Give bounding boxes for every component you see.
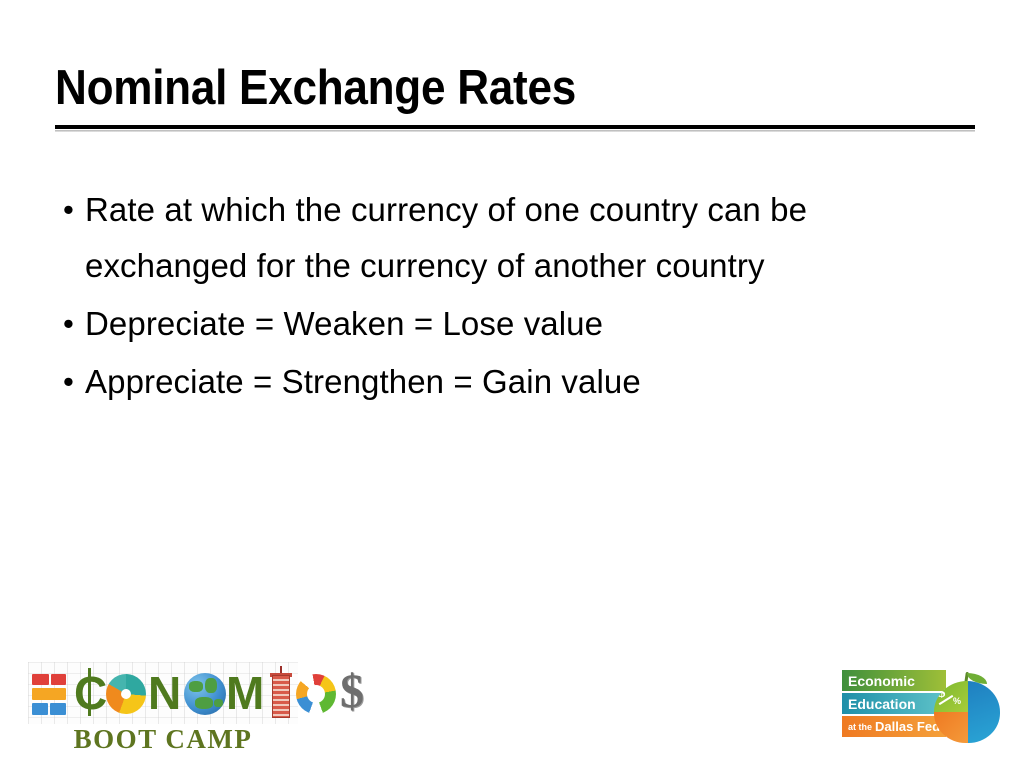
letter-i-building-icon — [272, 666, 290, 718]
apple-quadrant-blue — [968, 681, 1000, 743]
apple-icon: $ % — [934, 672, 1000, 744]
fed-band-economic-label: Economic — [848, 673, 915, 689]
letter-m-glyph: M — [226, 670, 264, 716]
letter-c-cent-icon: C — [74, 670, 106, 718]
bullet-dot-icon: • — [55, 182, 85, 238]
title-divider-shadow — [55, 130, 975, 132]
bullet-dot-icon: • — [55, 296, 85, 352]
title-divider-line — [55, 125, 975, 129]
list-item: • Depreciate = Weaken = Lose value — [55, 296, 985, 352]
list-item: • Appreciate = Strengthen = Gain value — [55, 354, 985, 410]
fed-band-economic: Economic — [842, 670, 946, 691]
letter-e-barchart-icon — [32, 674, 68, 716]
percent-sign-icon: % — [953, 696, 961, 706]
letter-c-donut-icon — [296, 674, 336, 714]
fed-band-atthe-label: at the — [848, 722, 872, 732]
apple-quadrant-green: $ % — [934, 681, 968, 712]
letter-o-piechart-icon — [106, 674, 146, 714]
letter-n-glyph: N — [148, 670, 181, 716]
bullet-list: • Rate at which the currency of one coun… — [55, 182, 985, 412]
bullet-text: Rate at which the currency of one countr… — [85, 182, 945, 294]
apple-body: $ % — [934, 681, 1000, 743]
economics-wordmark: C N M $ — [28, 662, 298, 724]
boot-camp-tagline: BOOT CAMP — [28, 724, 298, 755]
bullet-dot-icon: • — [55, 354, 85, 410]
cent-stroke-icon — [88, 668, 91, 716]
bullet-text: Depreciate = Weaken = Lose value — [85, 296, 945, 352]
list-item: • Rate at which the currency of one coun… — [55, 182, 985, 294]
dallas-fed-text-bands: Economic Education at the Dallas Fed — [842, 670, 946, 739]
fed-band-education-label: Education — [848, 696, 916, 712]
fed-band-dallasfed-label: Dallas Fed — [875, 719, 940, 734]
bullet-text: Appreciate = Strengthen = Gain value — [85, 354, 945, 410]
fed-band-education: Education — [842, 693, 946, 714]
title-block: Nominal Exchange Rates — [55, 62, 975, 115]
fed-band-dallas-fed: at the Dallas Fed — [842, 716, 946, 737]
title-divider — [55, 125, 975, 133]
slide-canvas: Nominal Exchange Rates • Rate at which t… — [0, 0, 1024, 768]
page-title: Nominal Exchange Rates — [55, 62, 883, 115]
economics-boot-camp-logo: C N M $ BOOT CAMP — [28, 662, 298, 758]
letter-o-globe-icon — [184, 673, 226, 715]
apple-quadrant-orange — [934, 712, 968, 743]
dallas-fed-logo: Economic Education at the Dallas Fed $ % — [842, 668, 1006, 754]
letter-s-dollar-icon: $ — [340, 668, 364, 716]
